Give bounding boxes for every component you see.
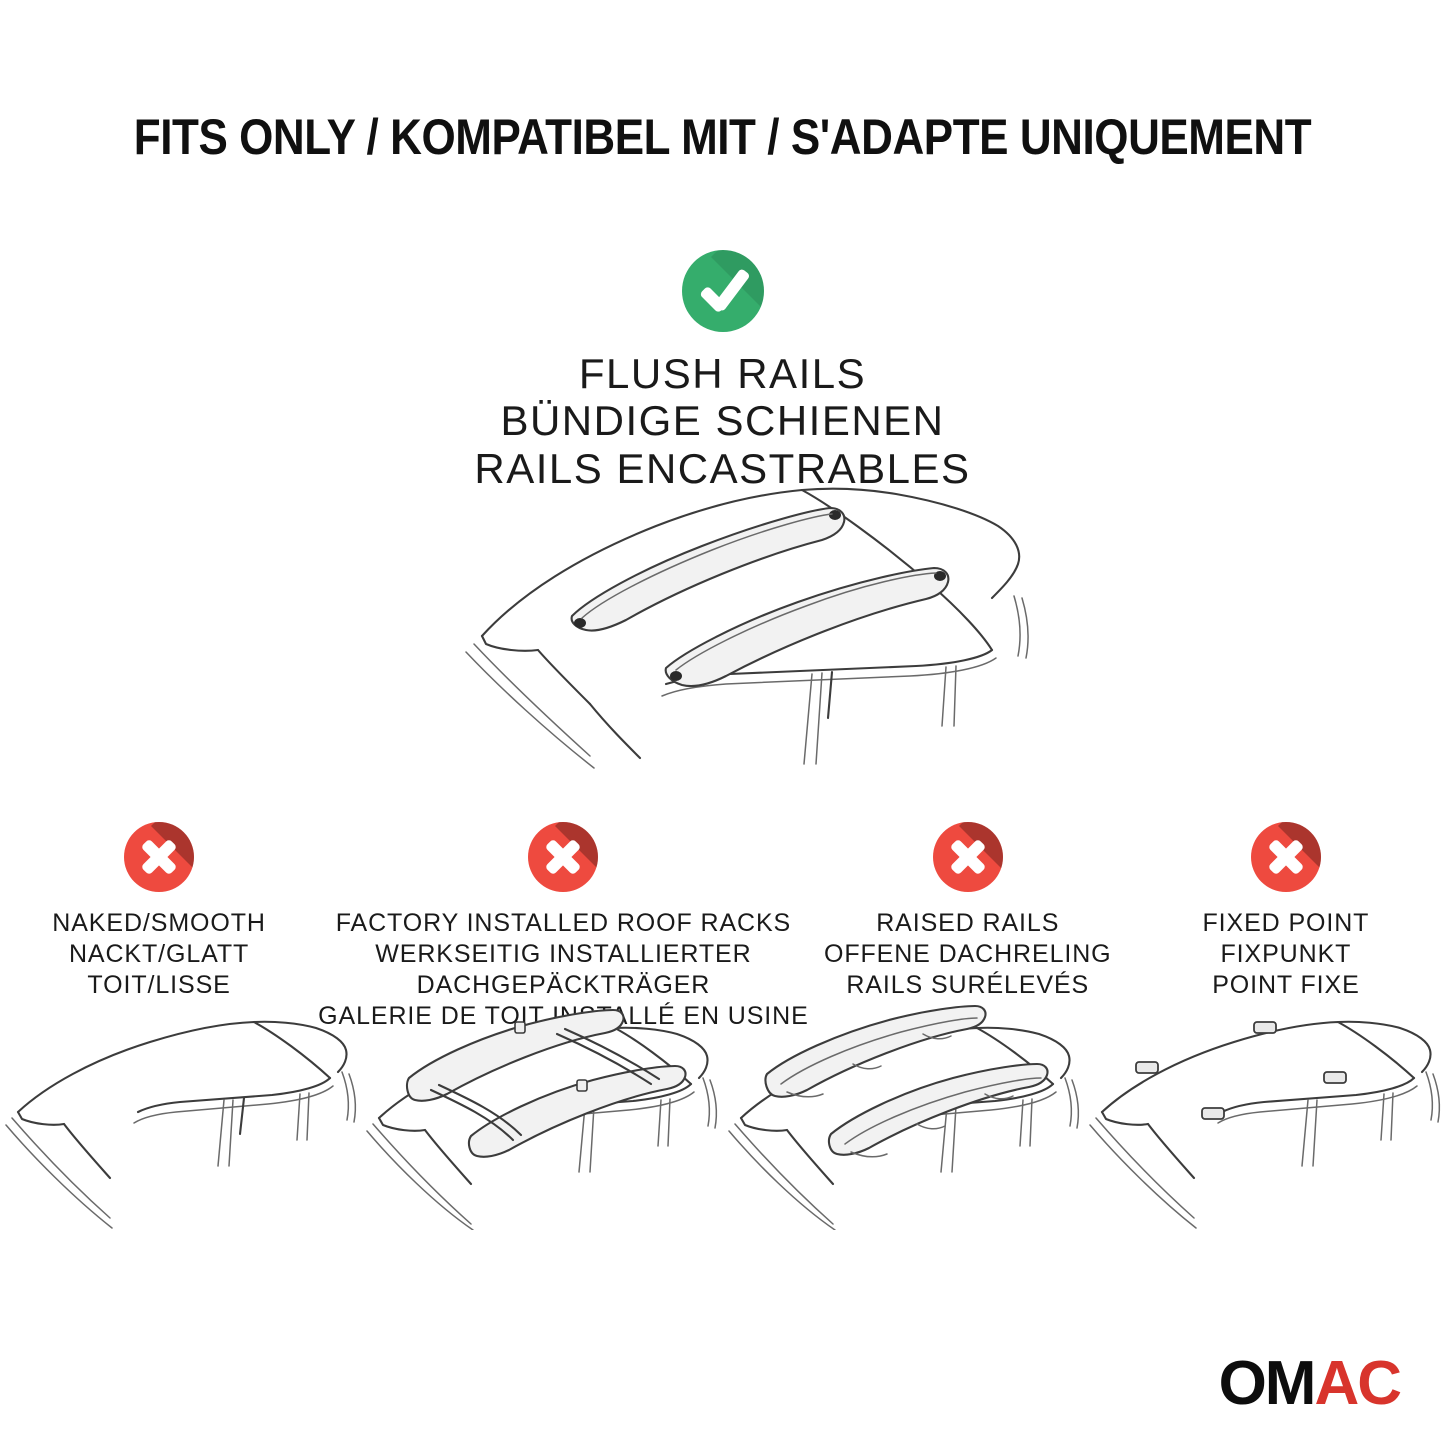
naked-label-de: NACKT/GLATT [52, 939, 266, 970]
fitment-infographic: FITS ONLY / KOMPATIBEL MIT / S'ADAPTE UN… [0, 0, 1445, 1445]
x-circle-icon [1251, 822, 1321, 892]
naked-label-en: NAKED/SMOOTH [52, 908, 266, 939]
x-circle-icon [933, 822, 1003, 892]
raised-label-en: RAISED RAILS [824, 908, 1112, 939]
check-glyph [682, 250, 764, 332]
fixed-label-de: FIXPUNKT [1203, 939, 1370, 970]
omac-logo: OM AC [1219, 1353, 1400, 1415]
incompatible-caption-naked: NAKED/SMOOTH NACKT/GLATT TOIT/LISSE [52, 908, 266, 1001]
fixed-label-en: FIXED POINT [1203, 908, 1370, 939]
x-glyph [933, 822, 1003, 892]
car-roof-flush-rails-illustration [430, 468, 1070, 778]
compatible-section: FLUSH RAILS BÜNDIGE SCHIENEN RAILS ENCAS… [0, 250, 1445, 492]
car-roof-raised-rails-illustration [723, 1000, 1084, 1230]
car-roof-factory-racks-illustration [361, 1000, 722, 1230]
factory-label-en: FACTORY INSTALLED ROOF RACKS [318, 908, 809, 939]
incompatible-illustrations [0, 1000, 1445, 1230]
logo-text-om: OM [1219, 1353, 1315, 1415]
compatible-label-en: FLUSH RAILS [474, 350, 970, 397]
car-roof-fixed-point-illustration [1084, 1000, 1445, 1230]
fixed-label-fr: POINT FIXE [1203, 970, 1370, 1001]
page-title: FITS ONLY / KOMPATIBEL MIT / S'ADAPTE UN… [87, 108, 1359, 166]
x-glyph [124, 822, 194, 892]
car-roof-naked-illustration [0, 1000, 361, 1230]
x-glyph [1251, 822, 1321, 892]
check-circle-icon [682, 250, 764, 332]
factory-label-de-1: WERKSEITIG INSTALLIERTER [318, 939, 809, 970]
x-circle-icon [124, 822, 194, 892]
factory-label-de-2: DACHGEPÄCKTRÄGER [318, 970, 809, 1001]
raised-label-de: OFFENE DACHRELING [824, 939, 1112, 970]
x-glyph [528, 822, 598, 892]
compatible-label-de: BÜNDIGE SCHIENEN [474, 397, 970, 444]
x-circle-icon [528, 822, 598, 892]
raised-label-fr: RAILS SURÉLEVÉS [824, 970, 1112, 1001]
incompatible-caption-fixed-point: FIXED POINT FIXPUNKT POINT FIXE [1203, 908, 1370, 1001]
incompatible-caption-raised-rails: RAISED RAILS OFFENE DACHRELING RAILS SUR… [824, 908, 1112, 1001]
logo-text-ac: AC [1314, 1353, 1400, 1415]
naked-label-fr: TOIT/LISSE [52, 970, 266, 1001]
